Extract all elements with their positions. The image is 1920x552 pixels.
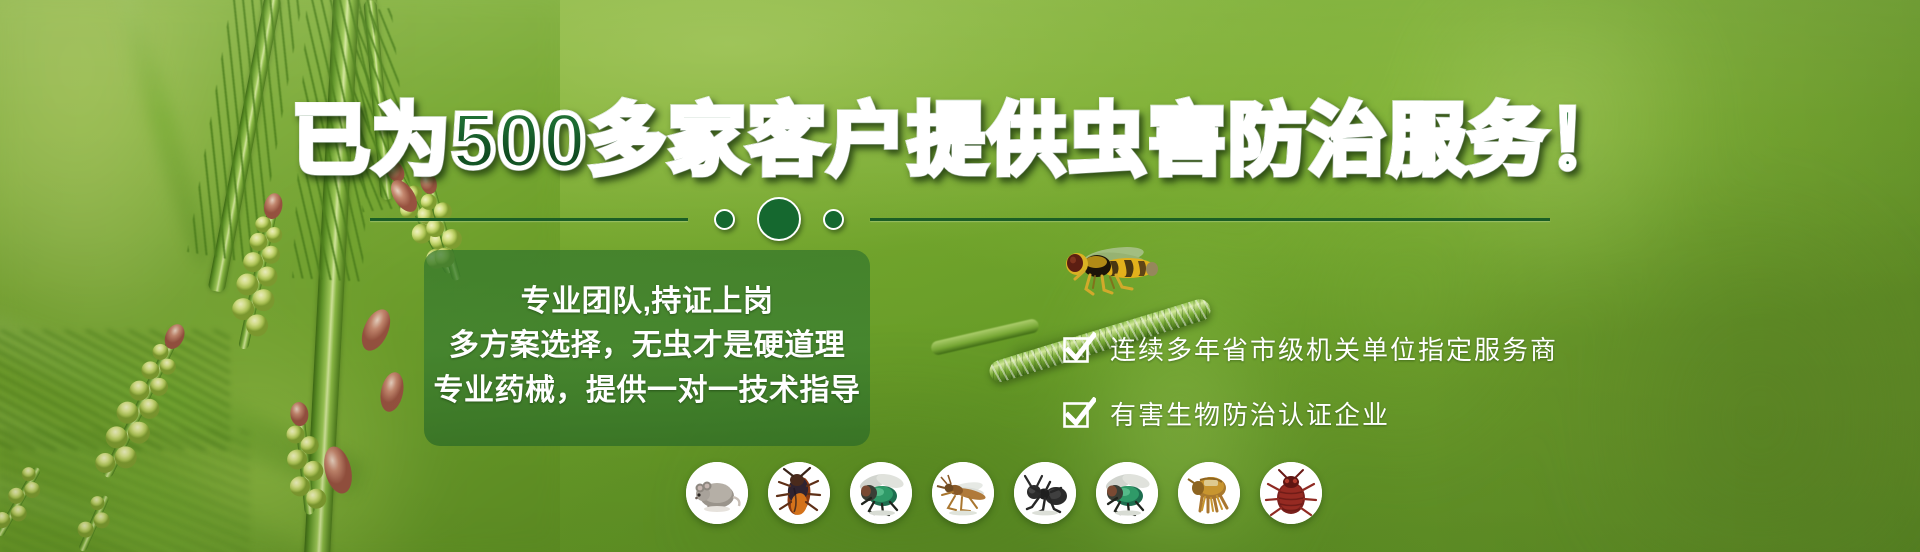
claim-line-2: 多方案选择，无虫才是硬道理 bbox=[449, 326, 846, 366]
divider-rule-left bbox=[370, 218, 688, 221]
blowfly-icon[interactable] bbox=[850, 462, 912, 524]
bullet-row: 连续多年省市级机关单位指定服务商 bbox=[1062, 330, 1558, 367]
checkbox-check-icon bbox=[1062, 332, 1096, 366]
bullet-row: 有害生物防治认证企业 bbox=[1062, 395, 1558, 432]
pest-icon-row bbox=[686, 462, 1322, 524]
dot-small-right-icon bbox=[823, 209, 844, 230]
cockroach-icon[interactable] bbox=[768, 462, 830, 524]
promotional-banner: 已为500多家客户提供虫害防治服务！ 已为500多家客户提供虫害防治服务！ 专业… bbox=[0, 0, 1920, 552]
bullet-text: 有害生物防治认证企业 bbox=[1110, 395, 1390, 432]
divider-rule-right bbox=[870, 218, 1550, 221]
dot-large-center-icon bbox=[757, 197, 801, 241]
checkbox-check-icon bbox=[1062, 397, 1096, 431]
rodent-icon[interactable] bbox=[686, 462, 748, 524]
blowfly-icon-2[interactable] bbox=[1096, 462, 1158, 524]
ant-icon[interactable] bbox=[1014, 462, 1076, 524]
claims-panel: 专业团队,持证上岗 多方案选择，无虫才是硬道理 专业药械，提供一对一技术指导 bbox=[424, 250, 870, 446]
certification-bullets: 连续多年省市级机关单位指定服务商 有害生物防治认证企业 bbox=[1062, 330, 1558, 432]
claim-line-3: 专业药械，提供一对一技术指导 bbox=[434, 371, 861, 411]
mosquito-icon[interactable] bbox=[932, 462, 994, 524]
dot-small-left-icon bbox=[714, 209, 735, 230]
bullet-text: 连续多年省市级机关单位指定服务商 bbox=[1110, 330, 1558, 367]
bedbug-icon[interactable] bbox=[1260, 462, 1322, 524]
flea-icon[interactable] bbox=[1178, 462, 1240, 524]
page-headline: 已为500多家客户提供虫害防治服务！ bbox=[0, 78, 1920, 190]
divider-dots bbox=[688, 197, 870, 241]
headline-divider bbox=[0, 198, 1920, 240]
claim-line-1: 专业团队,持证上岗 bbox=[521, 282, 774, 322]
